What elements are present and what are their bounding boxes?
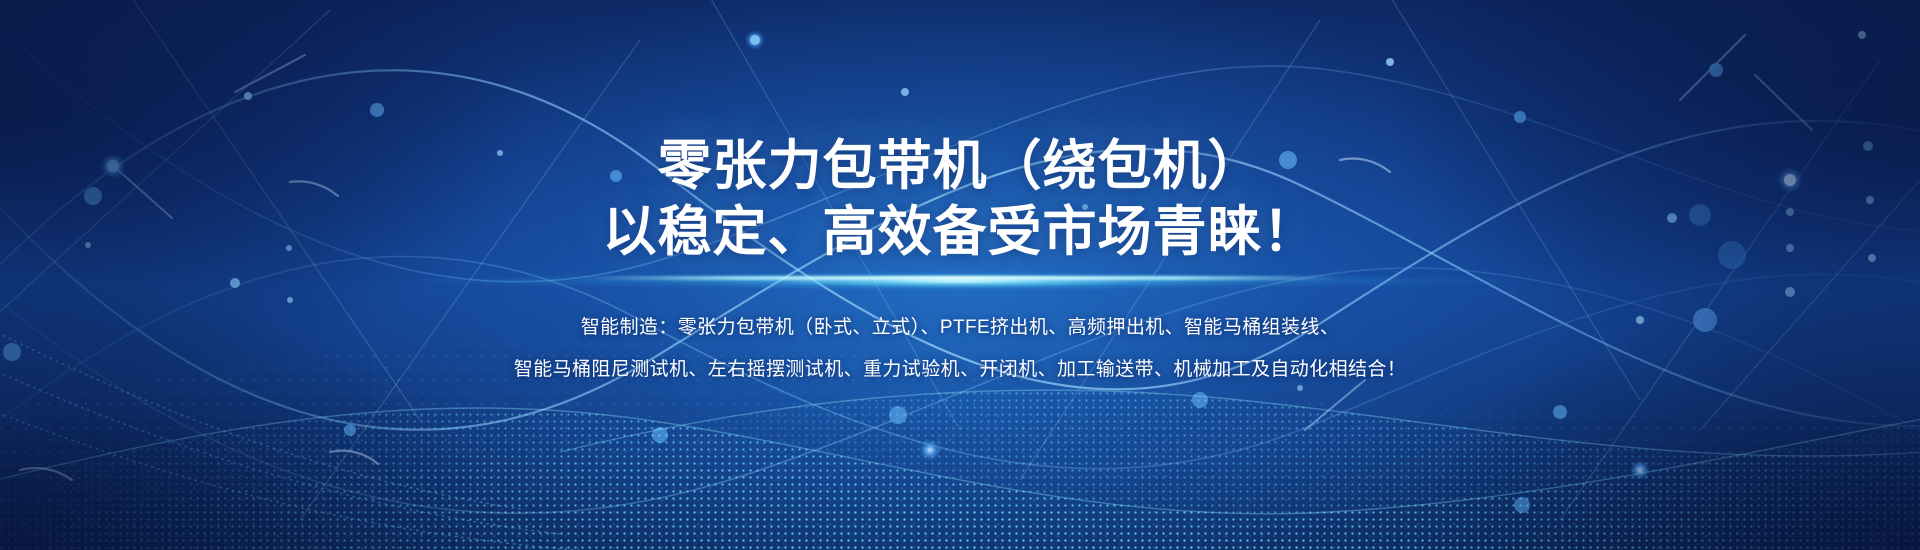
promo-banner: 零张力包带机（绕包机） 以稳定、高效备受市场青睐！ 智能制造：零张力包带机（卧式… [0,0,1920,550]
banner-subtitle: 智能制造：零张力包带机（卧式、立式）、PTFE挤出机、高频押出机、智能马桶组装线… [0,307,1920,391]
headline-line-1: 零张力包带机（绕包机） [0,133,1920,199]
subtitle-line-1: 智能制造：零张力包带机（卧式、立式）、PTFE挤出机、高频押出机、智能马桶组装线… [0,307,1920,349]
subtitle-line-2: 智能马桶阻尼测试机、左右摇摆测试机、重力试验机、开闭机、加工输送带、机械加工及自… [0,349,1920,391]
headline-line-2: 以稳定、高效备受市场青睐！ [0,199,1920,265]
banner-headline: 零张力包带机（绕包机） 以稳定、高效备受市场青睐！ [0,133,1920,265]
sine-wave-network [0,0,1920,550]
